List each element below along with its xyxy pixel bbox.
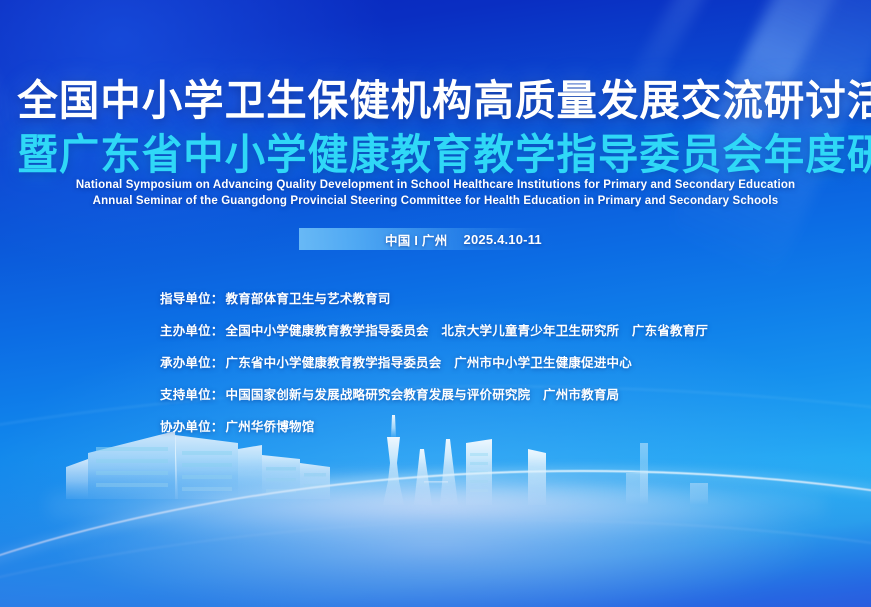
poster-title-line-2: 暨广东省中小学健康教育教学指导委员会年度研讨活动 [17,130,853,180]
organization-label: 指导单位： [160,288,224,307]
organization-label: 承办单位： [160,352,224,371]
title-block: 全国中小学卫生保健机构高质量发展交流研讨活动 暨广东省中小学健康教育教学指导委员… [0,76,871,180]
organization-label: 主办单位： [160,320,224,339]
organization-list: 指导单位： 教育部体育卫生与艺术教育司 主办单位： 全国中小学健康教育教学指导委… [160,288,708,448]
badge-location: 中国 I 广州 [385,230,448,249]
organization-row: 承办单位： 广东省中小学健康教育教学指导委员会 广州市中小学卫生健康促进中心 [160,352,708,371]
subtitle-block: National Symposium on Advancing Quality … [0,178,871,209]
organization-row: 指导单位： 教育部体育卫生与艺术教育司 [160,288,708,307]
organization-value: 广州华侨博物馆 [226,416,315,435]
organization-label: 支持单位： [160,384,224,403]
organization-value: 广东省中小学健康教育教学指导委员会 广州市中小学卫生健康促进中心 [226,352,632,371]
organization-label: 协办单位： [160,416,224,435]
location-date-badge: 中国 I 广州 2025.4.10-11 [299,228,557,250]
organization-row: 协办单位： 广州华侨博物馆 [160,416,708,435]
poster-subtitle-line-2: Annual Seminar of the Guangdong Provinci… [0,194,871,210]
badge-date: 2025.4.10-11 [464,232,542,247]
poster-content: 全国中小学卫生保健机构高质量发展交流研讨活动 暨广东省中小学健康教育教学指导委员… [0,0,871,607]
poster-subtitle-line-1: National Symposium on Advancing Quality … [0,178,871,194]
organization-row: 支持单位： 中国国家创新与发展战略研究会教育发展与评价研究院 广州市教育局 [160,384,708,403]
organization-value: 教育部体育卫生与艺术教育司 [226,288,391,307]
organization-row: 主办单位： 全国中小学健康教育教学指导委员会 北京大学儿童青少年卫生研究所 广东… [160,320,708,339]
poster-title-line-1: 全国中小学卫生保健机构高质量发展交流研讨活动 [17,76,853,126]
organization-value: 中国国家创新与发展战略研究会教育发展与评价研究院 广州市教育局 [226,384,620,403]
organization-value: 全国中小学健康教育教学指导委员会 北京大学儿童青少年卫生研究所 广东省教育厅 [226,320,709,339]
conference-poster: 全国中小学卫生保健机构高质量发展交流研讨活动 暨广东省中小学健康教育教学指导委员… [0,0,871,607]
